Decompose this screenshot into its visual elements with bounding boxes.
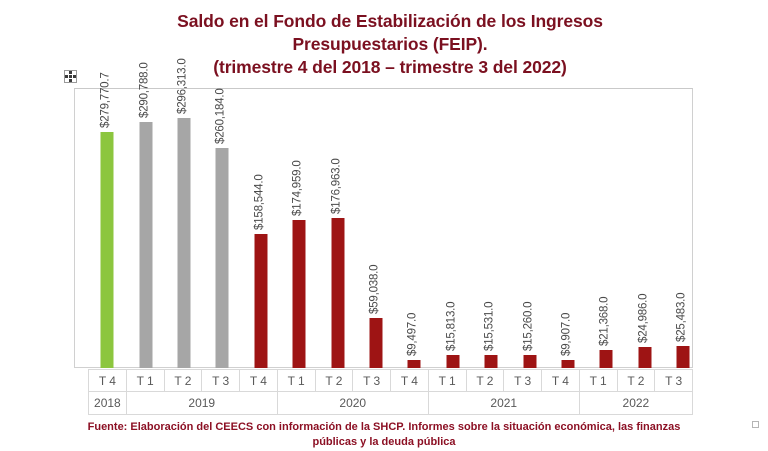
bars-layer: $279,770.7$290,788.0$296,313.0$260,184.0… [74, 88, 693, 368]
quarter-label: T 2 [617, 370, 655, 392]
quarter-label: T 3 [655, 370, 693, 392]
quarter-label: T 4 [391, 370, 429, 392]
axis-label-table: T 4T 1T 2T 3T 4T 1T 2T 3T 4T 1T 2T 3T 4T… [88, 369, 693, 415]
chart-bar[interactable] [523, 355, 536, 368]
bar-value-label: $260,184.0 [215, 88, 227, 144]
chart-bar[interactable] [331, 218, 344, 368]
chart-bar[interactable] [177, 118, 190, 368]
quarter-label: T 2 [466, 370, 504, 392]
quarter-label: T 4 [542, 370, 580, 392]
bar-value-label: $290,788.0 [138, 62, 150, 118]
page-title: Saldo en el Fondo de Estabilización de l… [110, 10, 670, 79]
quarter-label: T 3 [202, 370, 240, 392]
chart-bar[interactable] [101, 132, 114, 368]
chart-bar[interactable] [677, 346, 690, 368]
bar-value-label: $9,497.0 [407, 313, 419, 356]
year-label: 2021 [428, 392, 579, 415]
move-handle-icon[interactable] [64, 70, 77, 83]
year-label: 2018 [89, 392, 127, 415]
chart-bar[interactable] [446, 355, 459, 368]
chart-bar[interactable] [216, 148, 229, 368]
quarter-label: T 4 [240, 370, 278, 392]
chart-bar[interactable] [600, 350, 613, 368]
quarter-label: T 3 [353, 370, 391, 392]
quarter-label: T 3 [504, 370, 542, 392]
year-label: 2022 [579, 392, 692, 415]
bar-value-label: $9,907.0 [560, 313, 572, 356]
year-label: 2020 [277, 392, 428, 415]
bar-value-label: $279,770.7 [100, 72, 112, 128]
quarter-label: T 1 [277, 370, 315, 392]
bar-value-label: $24,986.0 [637, 294, 649, 343]
chart-bar[interactable] [369, 318, 382, 368]
title-line-1: Saldo en el Fondo de Estabilización de l… [110, 10, 670, 33]
quarter-label: T 1 [126, 370, 164, 392]
chart-bar[interactable] [561, 360, 574, 368]
bar-value-label: $15,260.0 [522, 302, 534, 351]
footnote-line-1: Fuente: Elaboración del CEECS con inform… [78, 420, 690, 435]
quarter-label: T 2 [164, 370, 202, 392]
quarter-label: T 2 [315, 370, 353, 392]
bar-value-label: $174,959.0 [292, 160, 304, 216]
quarter-label: T 4 [89, 370, 127, 392]
chart-bar[interactable] [485, 355, 498, 368]
bar-value-label: $59,038.0 [368, 265, 380, 314]
footnote-line-2: públicas y la deuda pública [78, 435, 690, 450]
bar-value-label: $176,963.0 [330, 158, 342, 214]
bar-value-label: $158,544.0 [253, 174, 265, 230]
bar-value-label: $296,313.0 [176, 58, 188, 114]
chart-bar[interactable] [139, 122, 152, 368]
chart-bar[interactable] [293, 220, 306, 368]
resize-handle-icon[interactable] [752, 421, 759, 428]
bar-value-label: $21,368.0 [599, 297, 611, 346]
quarter-row: T 4T 1T 2T 3T 4T 1T 2T 3T 4T 1T 2T 3T 4T… [89, 370, 693, 392]
quarter-label: T 1 [428, 370, 466, 392]
quarter-label: T 1 [579, 370, 617, 392]
bar-value-label: $15,531.0 [484, 302, 496, 351]
bar-value-label: $25,483.0 [676, 293, 688, 342]
title-line-2: Presupuestarios (FEIP). [110, 33, 670, 56]
bar-value-label: $15,813.0 [445, 302, 457, 351]
chart-bar[interactable] [254, 234, 267, 368]
chart-bar[interactable] [638, 347, 651, 368]
chart-bar[interactable] [408, 360, 421, 368]
source-footnote: Fuente: Elaboración del CEECS con inform… [78, 420, 690, 449]
year-label: 2019 [126, 392, 277, 415]
year-row: 20182019202020212022 [89, 392, 693, 415]
title-line-3: (trimestre 4 del 2018 – trimestre 3 del … [110, 56, 670, 79]
